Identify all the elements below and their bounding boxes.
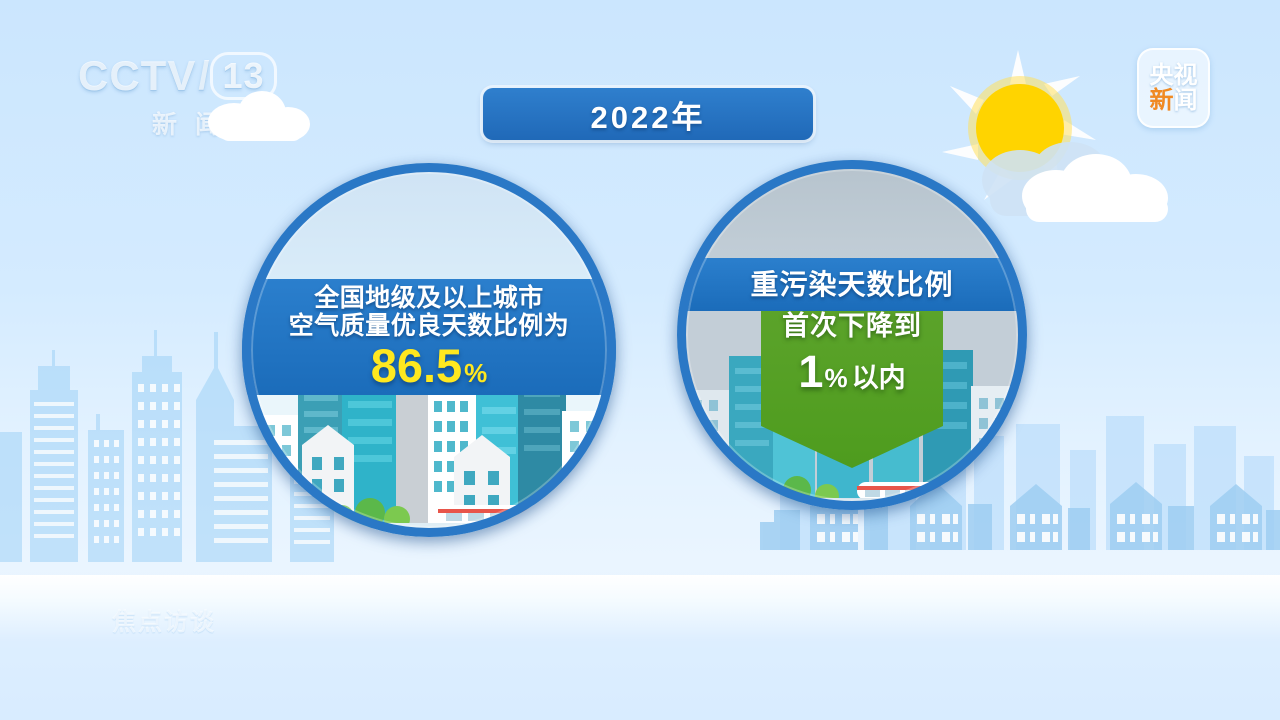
cctv-logo-text: CCTV — [78, 52, 196, 100]
panel-right-value: 1%以内 — [798, 349, 905, 394]
cloud-icon — [200, 88, 320, 142]
ground-strip — [0, 575, 1280, 720]
panel-right-value-unit: % — [824, 365, 847, 391]
panel-left-value-unit: % — [464, 358, 487, 388]
panel-left-info-band: 全国地级及以上城市 空气质量优良天数比例为 86.5% — [242, 279, 616, 395]
panel-air-quality-good-days: 全国地级及以上城市 空气质量优良天数比例为 86.5% — [242, 163, 616, 537]
panel-right-value-suffix: 以内 — [852, 365, 906, 392]
panel-left-title-line2: 空气质量优良天数比例为 — [289, 312, 570, 340]
panel-right-value-number: 1 — [798, 349, 823, 394]
panel-left-title-line1: 全国地级及以上城市 — [314, 284, 544, 312]
badge-char-wen: 闻 — [1174, 89, 1198, 113]
badge-char-yang: 央 — [1150, 64, 1174, 88]
panel-heavy-pollution-days: 首次下降到 1%以内 重污染天数比例 — [677, 160, 1027, 510]
panel-right-title-line1: 重污染天数比例 — [750, 269, 953, 300]
year-banner: 2022年 — [483, 88, 813, 140]
cctv-news-badge: 央 视 新 闻 — [1137, 48, 1210, 128]
year-label: 2022年 — [591, 92, 706, 137]
program-watermark: 焦点访谈 — [112, 602, 216, 637]
badge-row-bottom: 新 闻 — [1150, 89, 1198, 113]
badge-char-xin: 新 — [1150, 89, 1174, 113]
badge-char-shi: 视 — [1174, 64, 1198, 88]
panel-left-value-number: 86.5 — [371, 339, 462, 392]
panel-right-info-band: 重污染天数比例 — [677, 258, 1027, 311]
panel-left-value: 86.5% — [371, 342, 488, 389]
badge-row-top: 央 视 — [1150, 64, 1198, 88]
